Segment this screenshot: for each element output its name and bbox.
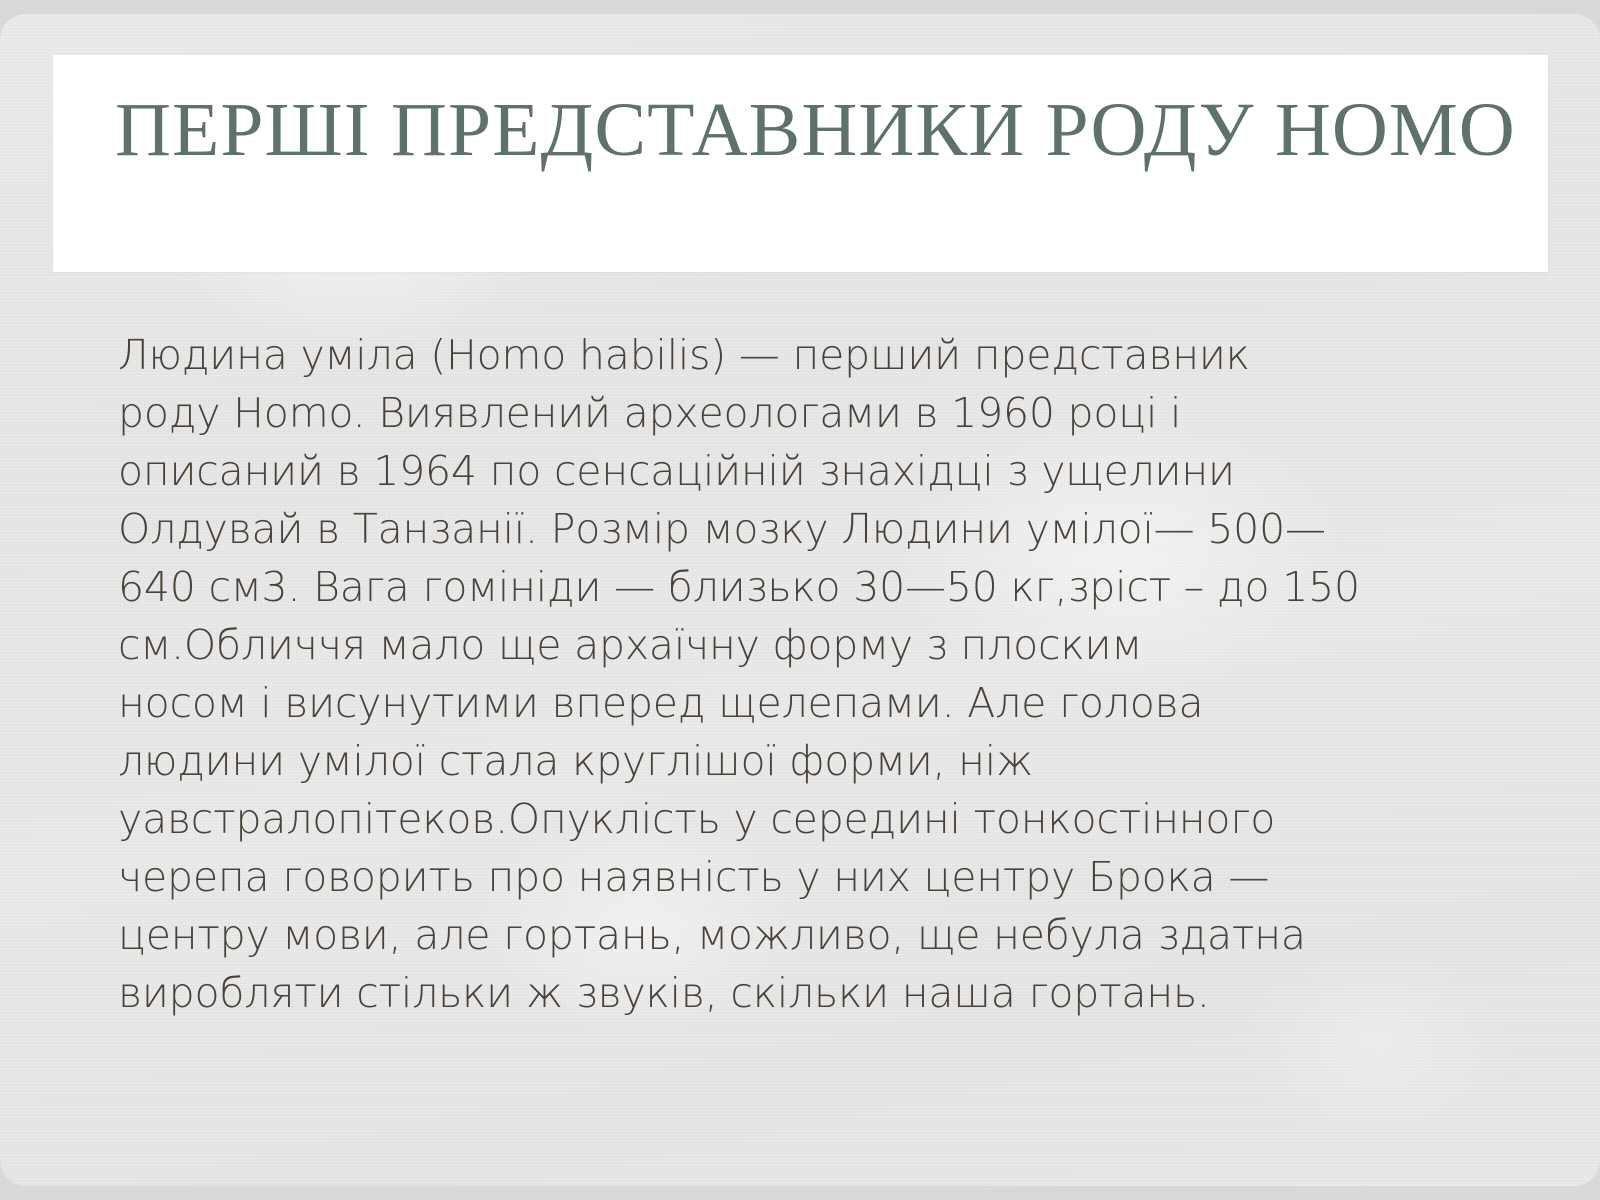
body-line: виробляти стільки ж звуків, скільки наша… (118, 964, 1508, 1022)
body-line: уавстралопітеков.Опуклість у середині то… (118, 790, 1508, 848)
body-line: описаний в 1964 по сенсаційній знахідці … (118, 442, 1508, 500)
presentation-slide: Перші представники роду Homo Людина уміл… (0, 14, 1600, 1186)
body-line: носом і висунутими вперед щелепами. Але … (118, 674, 1508, 732)
body-line: 640 см3. Вага гомініди — близько 30—50 к… (118, 558, 1508, 616)
body-line: роду Homo. Виявлений археологами в 1960 … (118, 384, 1508, 442)
slide-title: Перші представники роду Homo (115, 87, 1523, 173)
body-line: черепа говорить про наявність у них цент… (118, 848, 1508, 906)
body-line: Людина уміла (Homo habilis) — перший пре… (118, 326, 1508, 384)
body-line: людини умілої стала круглішої форми, ніж (118, 732, 1508, 790)
slide-body-text: Людина уміла (Homo habilis) — перший пре… (118, 326, 1508, 1022)
body-line: Олдувай в Танзанії. Розмір мозку Людини … (118, 500, 1508, 558)
body-line: центру мови, але гортань, можливо, ще не… (118, 906, 1508, 964)
body-line: см.Обличчя мало ще архаїчну форму з плос… (118, 616, 1508, 674)
slide-title-block: Перші представники роду Homo (53, 55, 1548, 272)
